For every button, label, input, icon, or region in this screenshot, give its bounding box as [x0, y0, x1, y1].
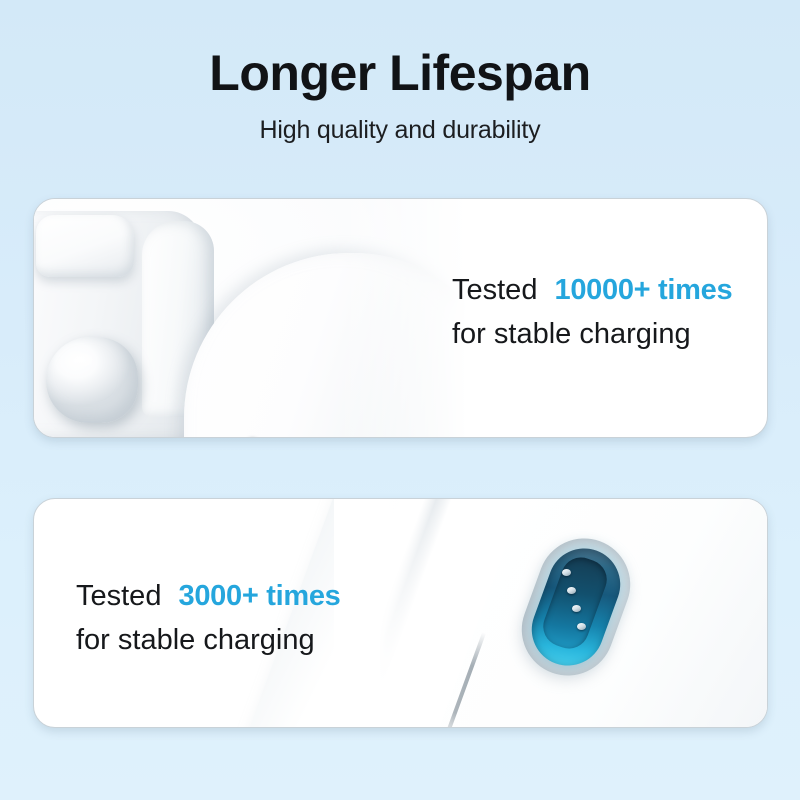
feature-copy-3000: Tested 3000+ times for stable charging	[76, 577, 340, 660]
feature-headline: Tested 10000+ times	[452, 271, 732, 310]
cradle-knob	[46, 337, 138, 423]
tested-count: 3000+ times	[179, 580, 341, 612]
feature-subline: for stable charging	[452, 315, 732, 354]
port-contact-dot	[567, 587, 576, 594]
port-contact-dot	[577, 623, 586, 630]
charging-pin-right	[232, 423, 272, 438]
feature-card-3000: Tested 3000+ times for stable charging	[33, 498, 768, 728]
tested-label: Tested	[452, 274, 537, 306]
page-title: Longer Lifespan	[0, 47, 800, 100]
feature-subline: for stable charging	[76, 621, 340, 660]
page-header: Longer Lifespan High quality and durabil…	[0, 0, 800, 145]
photo-fade	[334, 499, 484, 728]
feature-headline: Tested 3000+ times	[76, 577, 340, 616]
feature-card-10000: ↧ ↡ Tested 10000+ times for stabl	[33, 198, 768, 438]
promo-page: Longer Lifespan High quality and durabil…	[0, 0, 800, 800]
product-photo-charging-cradle: ↧ ↡	[34, 199, 464, 437]
product-photo-charging-port	[334, 499, 768, 727]
tested-count: 10000+ times	[555, 274, 733, 306]
tested-label: Tested	[76, 580, 161, 612]
pin-tip	[246, 437, 259, 438]
port-contact-dot	[562, 569, 571, 576]
page-subtitle: High quality and durability	[0, 116, 800, 145]
cradle-top-cap	[36, 215, 134, 277]
port-contact-dot	[572, 605, 581, 612]
feature-copy-10000: Tested 10000+ times for stable charging	[452, 271, 732, 354]
